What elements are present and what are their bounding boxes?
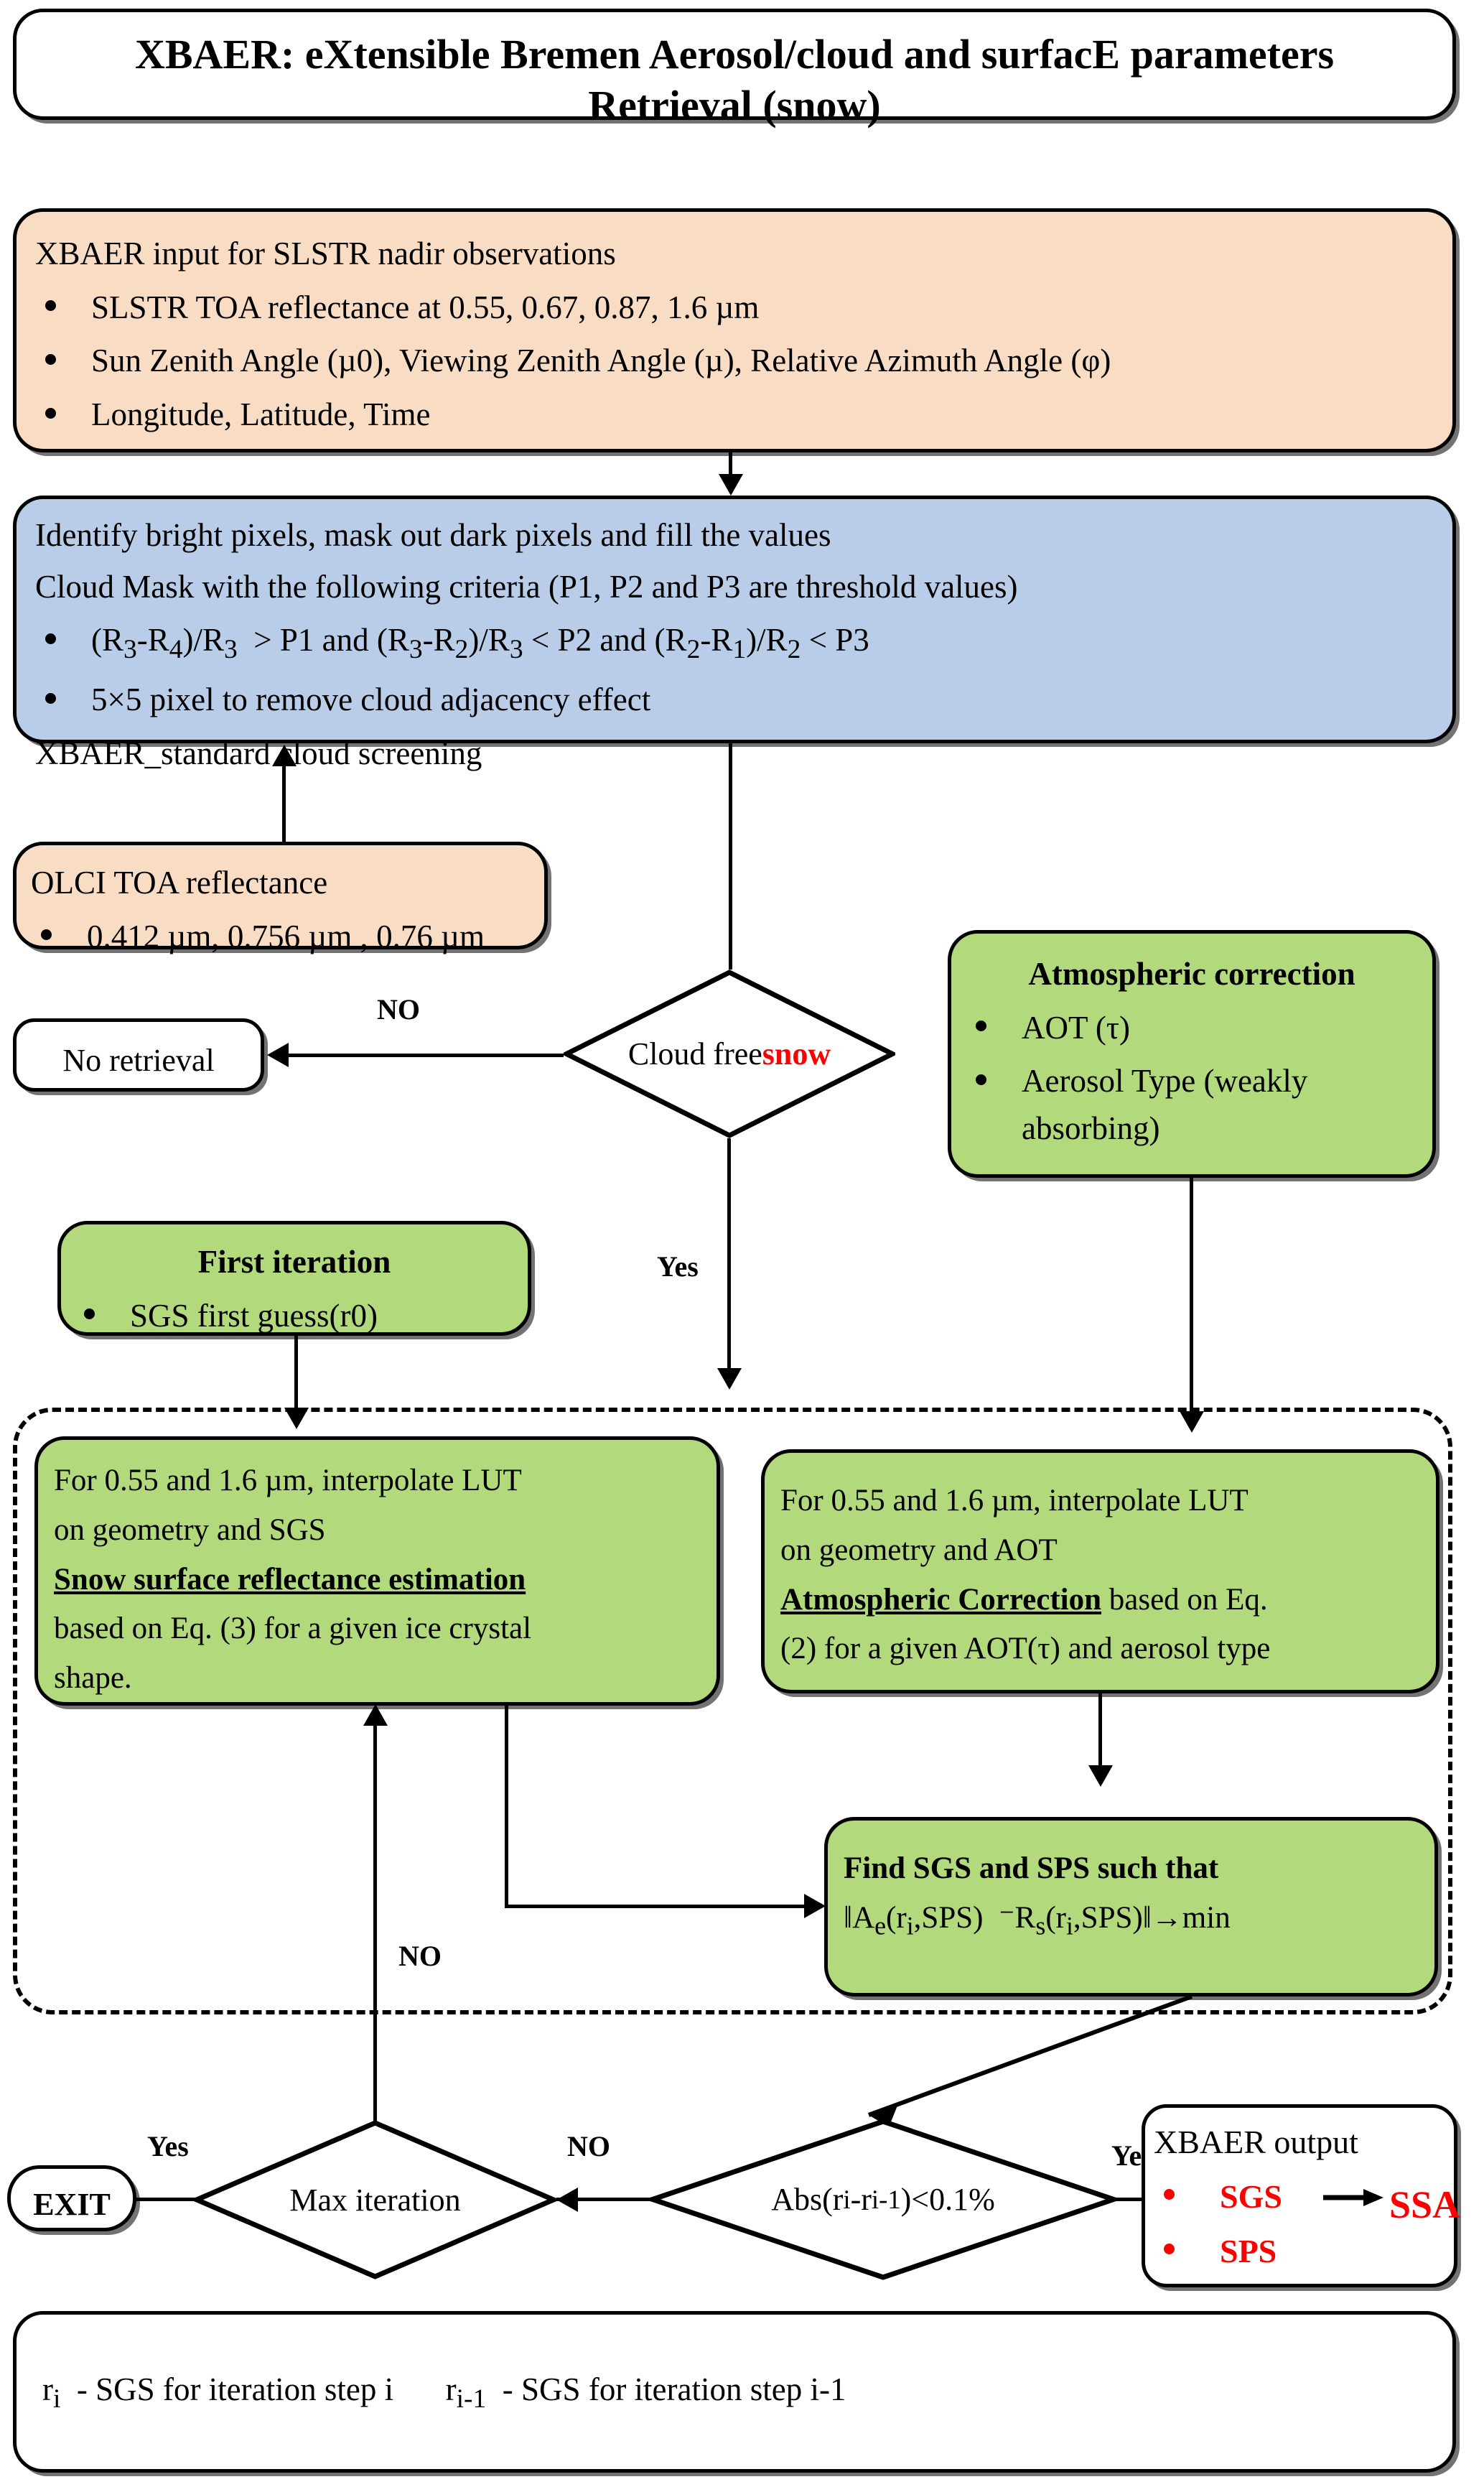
exit-label: EXIT xyxy=(11,2169,133,2235)
find-sgs-heading: Find SGS and SPS such that xyxy=(844,1846,1419,1892)
connector-maxiter-to-exit xyxy=(133,2198,201,2201)
arrowhead-down xyxy=(1088,1765,1113,1787)
abs-diamond-label: Abs(ri-ri-1)<0.1% xyxy=(650,2119,1116,2280)
atmos-corr-heading: Atmospheric correction xyxy=(966,951,1418,998)
connector-atmoslut-to-findsgs xyxy=(1098,1693,1102,1776)
edge-label-no-maxiter: NO xyxy=(567,2129,610,2163)
arrowhead-up xyxy=(272,745,297,766)
no-retrieval-label: No retrieval xyxy=(17,1022,261,1094)
title-box: XBAER: eXtensible Bremen Aerosol/cloud a… xyxy=(13,9,1456,120)
atmospheric-correction-box: Atmospheric correction AOT (τ) Aerosol T… xyxy=(948,930,1436,1178)
connector-atmoscorr-to-lut xyxy=(1190,1178,1193,1422)
cloud-free-snow-diamond: Cloud free snow xyxy=(564,970,895,1138)
title-text: XBAER: eXtensible Bremen Aerosol/cloud a… xyxy=(17,12,1452,149)
legend-text-b: ri-1 - SGS for iteration step i-1 xyxy=(446,2371,846,2407)
list-item: AOT (τ) xyxy=(966,1005,1418,1052)
snow-line-4: based on Eq. (3) for a given ice crystal xyxy=(54,1607,701,1652)
cloud-mask-content: Identify bright pixels, mask out dark pi… xyxy=(17,499,1452,796)
atmos-corr-bullets: AOT (τ) Aerosol Type (weakly absorbing) xyxy=(966,1005,1418,1153)
list-item: 0.412 µm, 0.756 µm , 0.76 µm xyxy=(31,914,530,961)
connector-maxiter-up xyxy=(373,2014,377,2122)
arrowhead-left xyxy=(556,2188,578,2212)
cloud-mask-box: Identify bright pixels, mask out dark pi… xyxy=(13,496,1456,743)
olci-bullets: 0.412 µm, 0.756 µm , 0.76 µm xyxy=(31,914,530,961)
first-iteration-bullets: SGS first guess(r0) xyxy=(74,1293,515,1340)
edge-label-yes-down: Yes xyxy=(657,1250,699,1283)
edge-label-no-loop: NO xyxy=(398,1939,442,1973)
exit-node: EXIT xyxy=(7,2165,136,2231)
atmos-lut-line-3-rest: based on Eq. xyxy=(1101,1583,1268,1617)
atmospheric-correction-lut-box: For 0.55 and 1.6 µm, interpolate LUT on … xyxy=(761,1449,1439,1693)
legend-text-a: ri - SGS for iteration step i xyxy=(42,2371,393,2407)
connector-snowbox-right xyxy=(505,1905,810,1908)
snow-line-3: Snow surface reflectance estimation xyxy=(54,1558,701,1603)
arrowhead-down xyxy=(719,474,743,496)
diamond-text-plain: Cloud free xyxy=(628,1036,762,1072)
list-item: SLSTR TOA reflectance at 0.55, 0.67, 0.8… xyxy=(35,284,1434,332)
output-heading: XBAER output xyxy=(1154,2118,1445,2166)
flowchart-canvas: XBAER: eXtensible Bremen Aerosol/cloud a… xyxy=(0,0,1484,2487)
connector-cloudmask-to-diamond xyxy=(729,743,732,970)
list-item: SGS first guess(r0) xyxy=(74,1293,515,1340)
first-iteration-box: First iteration SGS first guess(r0) xyxy=(57,1221,531,1336)
xbaer-output-box: XBAER output SGS SPS SSA xyxy=(1142,2104,1457,2287)
xbaer-input-heading: XBAER input for SLSTR nadir observations xyxy=(35,231,1434,278)
legend-box: ri - SGS for iteration step i ri-1 - SGS… xyxy=(13,2311,1456,2473)
max-iteration-label: Max iteration xyxy=(194,2120,556,2279)
cloud-mask-line-1: Identify bright pixels, mask out dark pi… xyxy=(35,512,1434,559)
list-item: (R3-R4)/R3 > P1 and (R3-R2)/R3 < P2 and … xyxy=(35,617,1434,670)
atmos-lut-line-3: Atmospheric Correction based on Eq. xyxy=(780,1578,1420,1623)
find-sgs-formula: ‖Ae(ri,SPS) ⁻Rs(ri,SPS)‖→min xyxy=(844,1896,1419,1945)
xbaer-input-bullets: SLSTR TOA reflectance at 0.55, 0.67, 0.8… xyxy=(35,284,1434,439)
atmos-lut-line-2: on geometry and AOT xyxy=(780,1528,1420,1573)
list-item: Longitude, Latitude, Time xyxy=(35,391,1434,439)
connector-snowbox-down xyxy=(505,1706,508,1907)
edge-label-no-left: NO xyxy=(377,993,420,1026)
olci-heading: OLCI TOA reflectance xyxy=(31,860,530,907)
olci-content: OLCI TOA reflectance 0.412 µm, 0.756 µm … xyxy=(17,845,544,977)
list-item: Aerosol Type (weakly absorbing) xyxy=(966,1058,1418,1152)
connector-olci-to-cloudmask xyxy=(282,765,286,844)
cloud-mask-line-3: XBAER_standard cloud screening xyxy=(35,730,1434,778)
atmos-lut-content: For 0.55 and 1.6 µm, interpolate LUT on … xyxy=(765,1453,1436,1698)
first-iteration-heading: First iteration xyxy=(74,1239,515,1286)
snow-surface-content: For 0.55 and 1.6 µm, interpolate LUT on … xyxy=(38,1440,717,1720)
snow-surface-reflectance-box: For 0.55 and 1.6 µm, interpolate LUT on … xyxy=(34,1436,720,1706)
no-retrieval-box: No retrieval xyxy=(13,1018,264,1092)
arrowhead-down xyxy=(717,1368,742,1390)
max-iteration-diamond: Max iteration xyxy=(194,2120,556,2279)
list-item: Sun Zenith Angle (µ0), Viewing Zenith An… xyxy=(35,338,1434,385)
title-line-2: Retrieval (snow) xyxy=(38,80,1431,131)
list-item: 5×5 pixel to remove cloud adjacency effe… xyxy=(35,677,1434,724)
atmos-lut-line-4: (2) for a given AOT(τ) and aerosol type xyxy=(780,1627,1420,1672)
find-sgs-sps-box: Find SGS and SPS such that ‖Ae(ri,SPS) ⁻… xyxy=(824,1817,1438,1996)
cloud-mask-bullets: (R3-R4)/R3 > P1 and (R3-R2)/R3 < P2 and … xyxy=(35,617,1434,723)
cloud-mask-line-2: Cloud Mask with the following criteria (… xyxy=(35,564,1434,611)
title-line-1: XBAER: eXtensible Bremen Aerosol/cloud a… xyxy=(38,29,1431,80)
legend-content: ri - SGS for iteration step i ri-1 - SGS… xyxy=(17,2315,1452,2434)
xbaer-input-content: XBAER input for SLSTR nadir observations… xyxy=(17,212,1452,460)
diamond-text-red: snow xyxy=(762,1036,831,1072)
arrowhead-up xyxy=(363,1704,388,1726)
connector-firstiter-to-snowbox xyxy=(294,1336,298,1418)
atmos-corr-content: Atmospheric correction AOT (τ) Aerosol T… xyxy=(951,934,1432,1172)
list-item: SPS xyxy=(1154,2227,1445,2275)
output-ssa-label: SSA xyxy=(1389,2177,1460,2233)
find-sgs-content: Find SGS and SPS such that ‖Ae(ri,SPS) ⁻… xyxy=(828,1821,1434,1971)
connector-diamond-to-noretrieval xyxy=(287,1054,564,1057)
snow-line-2: on geometry and SGS xyxy=(54,1508,701,1553)
abs-convergence-diamond: Abs(ri-ri-1)<0.1% xyxy=(650,2119,1116,2280)
connector-diamond-yes xyxy=(727,1138,731,1379)
output-content: XBAER output SGS SPS SSA xyxy=(1145,2108,1454,2287)
snow-line-5: shape. xyxy=(54,1656,701,1701)
atmos-lut-line-1: For 0.55 and 1.6 µm, interpolate LUT xyxy=(780,1479,1420,1524)
ssa-arrow-icon xyxy=(1323,2188,1385,2207)
atmos-lut-line-3-underlined: Atmospheric Correction xyxy=(780,1583,1101,1617)
cloud-free-snow-label: Cloud free snow xyxy=(564,970,895,1138)
edge-label-yes-exit: Yes xyxy=(147,2129,189,2163)
xbaer-input-box: XBAER input for SLSTR nadir observations… xyxy=(13,208,1456,452)
olci-toa-box: OLCI TOA reflectance 0.412 µm, 0.756 µm … xyxy=(13,842,548,949)
arrowhead-left xyxy=(267,1043,289,1067)
arrowhead-right xyxy=(804,1894,826,1918)
snow-line-1: For 0.55 and 1.6 µm, interpolate LUT xyxy=(54,1459,701,1504)
